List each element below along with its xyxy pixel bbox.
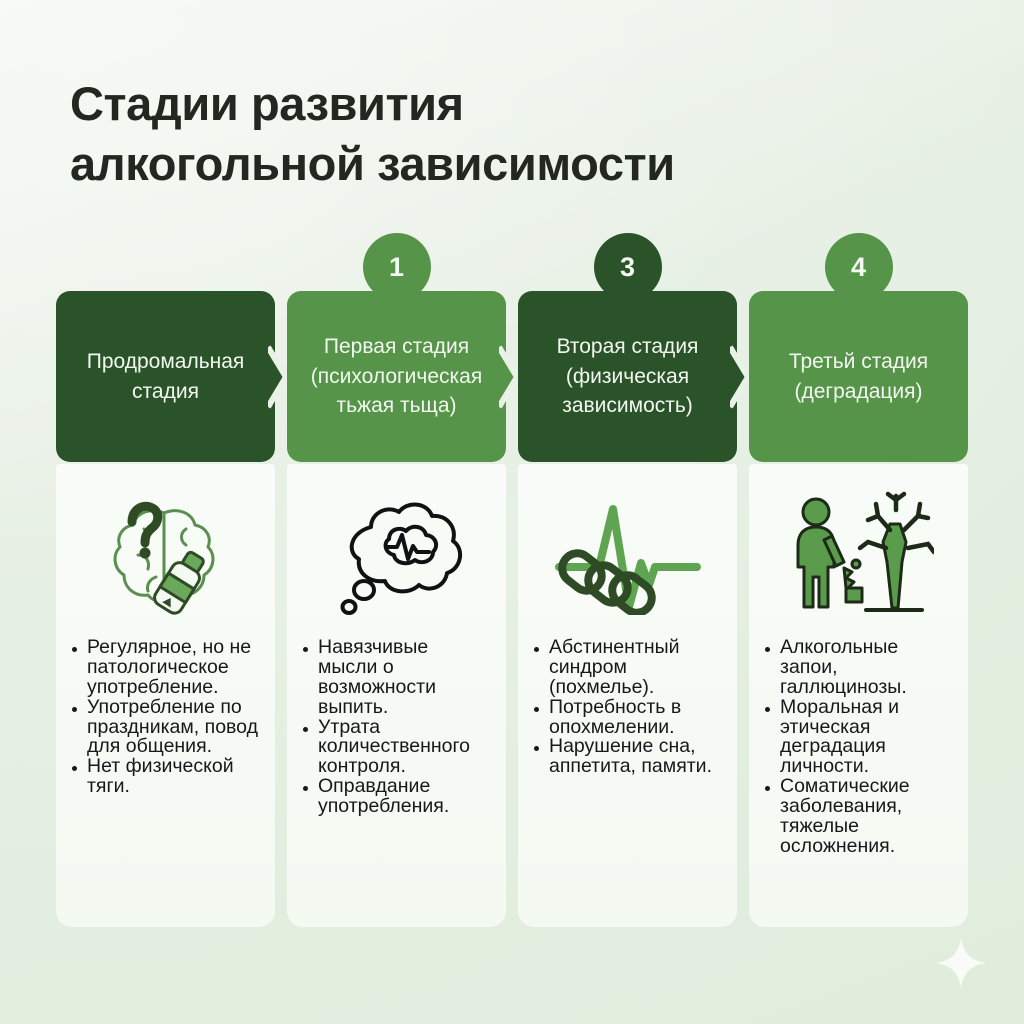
stage-bullets-0: Регулярное, но не патологическое употреб… xyxy=(70,638,261,797)
page-title: Стадии развития алкогольной зависимости xyxy=(70,74,910,194)
stage-body-2: Абстинентный синдром (похмелье). Потребн… xyxy=(518,464,737,927)
list-item: Соматические заболевания, тяжелые осложн… xyxy=(763,777,954,857)
stage-header-2: Вторая стадия (физическая зависимость) xyxy=(518,291,737,462)
person-bare-tree-icon xyxy=(763,480,954,630)
stage-card-0[interactable]: Продромальная стадия xyxy=(56,291,275,927)
stage-badge-3: 4 xyxy=(825,233,893,301)
stage-bullets-2: Абстинентный синдром (похмелье). Потребн… xyxy=(532,638,723,777)
stage-header-label-2: Вторая стадия (физическая зависимость) xyxy=(536,332,719,421)
stage-header-label-1: Первая стадия (психологическая тьжая тьщ… xyxy=(305,332,488,421)
stage-badge-2: 3 xyxy=(594,233,662,301)
list-item: Потребность в опохмелении. xyxy=(532,698,723,738)
stage-header-1: Первая стадия (психологическая тьжая тьщ… xyxy=(287,291,506,462)
stage-card-3[interactable]: 4 Третьй стадия (деградация) xyxy=(749,291,968,927)
infographic-poster: Стадии развития алкогольной зависимости … xyxy=(0,0,1024,1024)
list-item: Утрата количественного контроля. xyxy=(301,718,492,778)
brain-question-bottle-icon xyxy=(70,480,261,630)
thought-bubble-pulse-icon xyxy=(301,480,492,630)
list-item: Навязчивые мысли о возможности выпить. xyxy=(301,638,492,718)
stage-bullets-1: Навязчивые мысли о возможности выпить. У… xyxy=(301,638,492,817)
stage-header-label-0: Продромальная стадия xyxy=(74,347,257,407)
list-item: Употребление по праздникам, повод для об… xyxy=(70,698,261,758)
stage-header-3: Третьй стадия (деградация) xyxy=(749,291,968,462)
list-item: Нарушение сна, аппетита, памяти. xyxy=(532,737,723,777)
stage-header-label-3: Третьй стадия (деградация) xyxy=(767,347,950,407)
stage-bullets-3: Алкогольные запои, галлюцинозы. Моральна… xyxy=(763,638,954,857)
list-item: Моральная и этическая деградация личност… xyxy=(763,698,954,778)
stage-body-3: Алкогольные запои, галлюцинозы. Моральна… xyxy=(749,464,968,927)
chain-pulse-icon xyxy=(532,480,723,630)
stage-card-1[interactable]: 1 Первая стадия (психологическая тьжая т… xyxy=(287,291,506,927)
list-item: Абстинентный синдром (похмелье). xyxy=(532,638,723,698)
sparkle-star-icon xyxy=(934,936,988,990)
stage-body-1: Навязчивые мысли о возможности выпить. У… xyxy=(287,464,506,927)
stage-card-2[interactable]: 3 Вторая стадия (физическая зависимость) xyxy=(518,291,737,927)
stage-badge-1: 1 xyxy=(363,233,431,301)
stages-flow: Продромальная стадия xyxy=(56,291,968,927)
list-item: Алкогольные запои, галлюцинозы. xyxy=(763,638,954,698)
list-item: Нет физической тяги. xyxy=(70,757,261,797)
list-item: Оправдание употребления. xyxy=(301,777,492,817)
stage-body-0: Регулярное, но не патологическое употреб… xyxy=(56,464,275,927)
stage-header-0: Продромальная стадия xyxy=(56,291,275,462)
list-item: Регулярное, но не патологическое употреб… xyxy=(70,638,261,698)
